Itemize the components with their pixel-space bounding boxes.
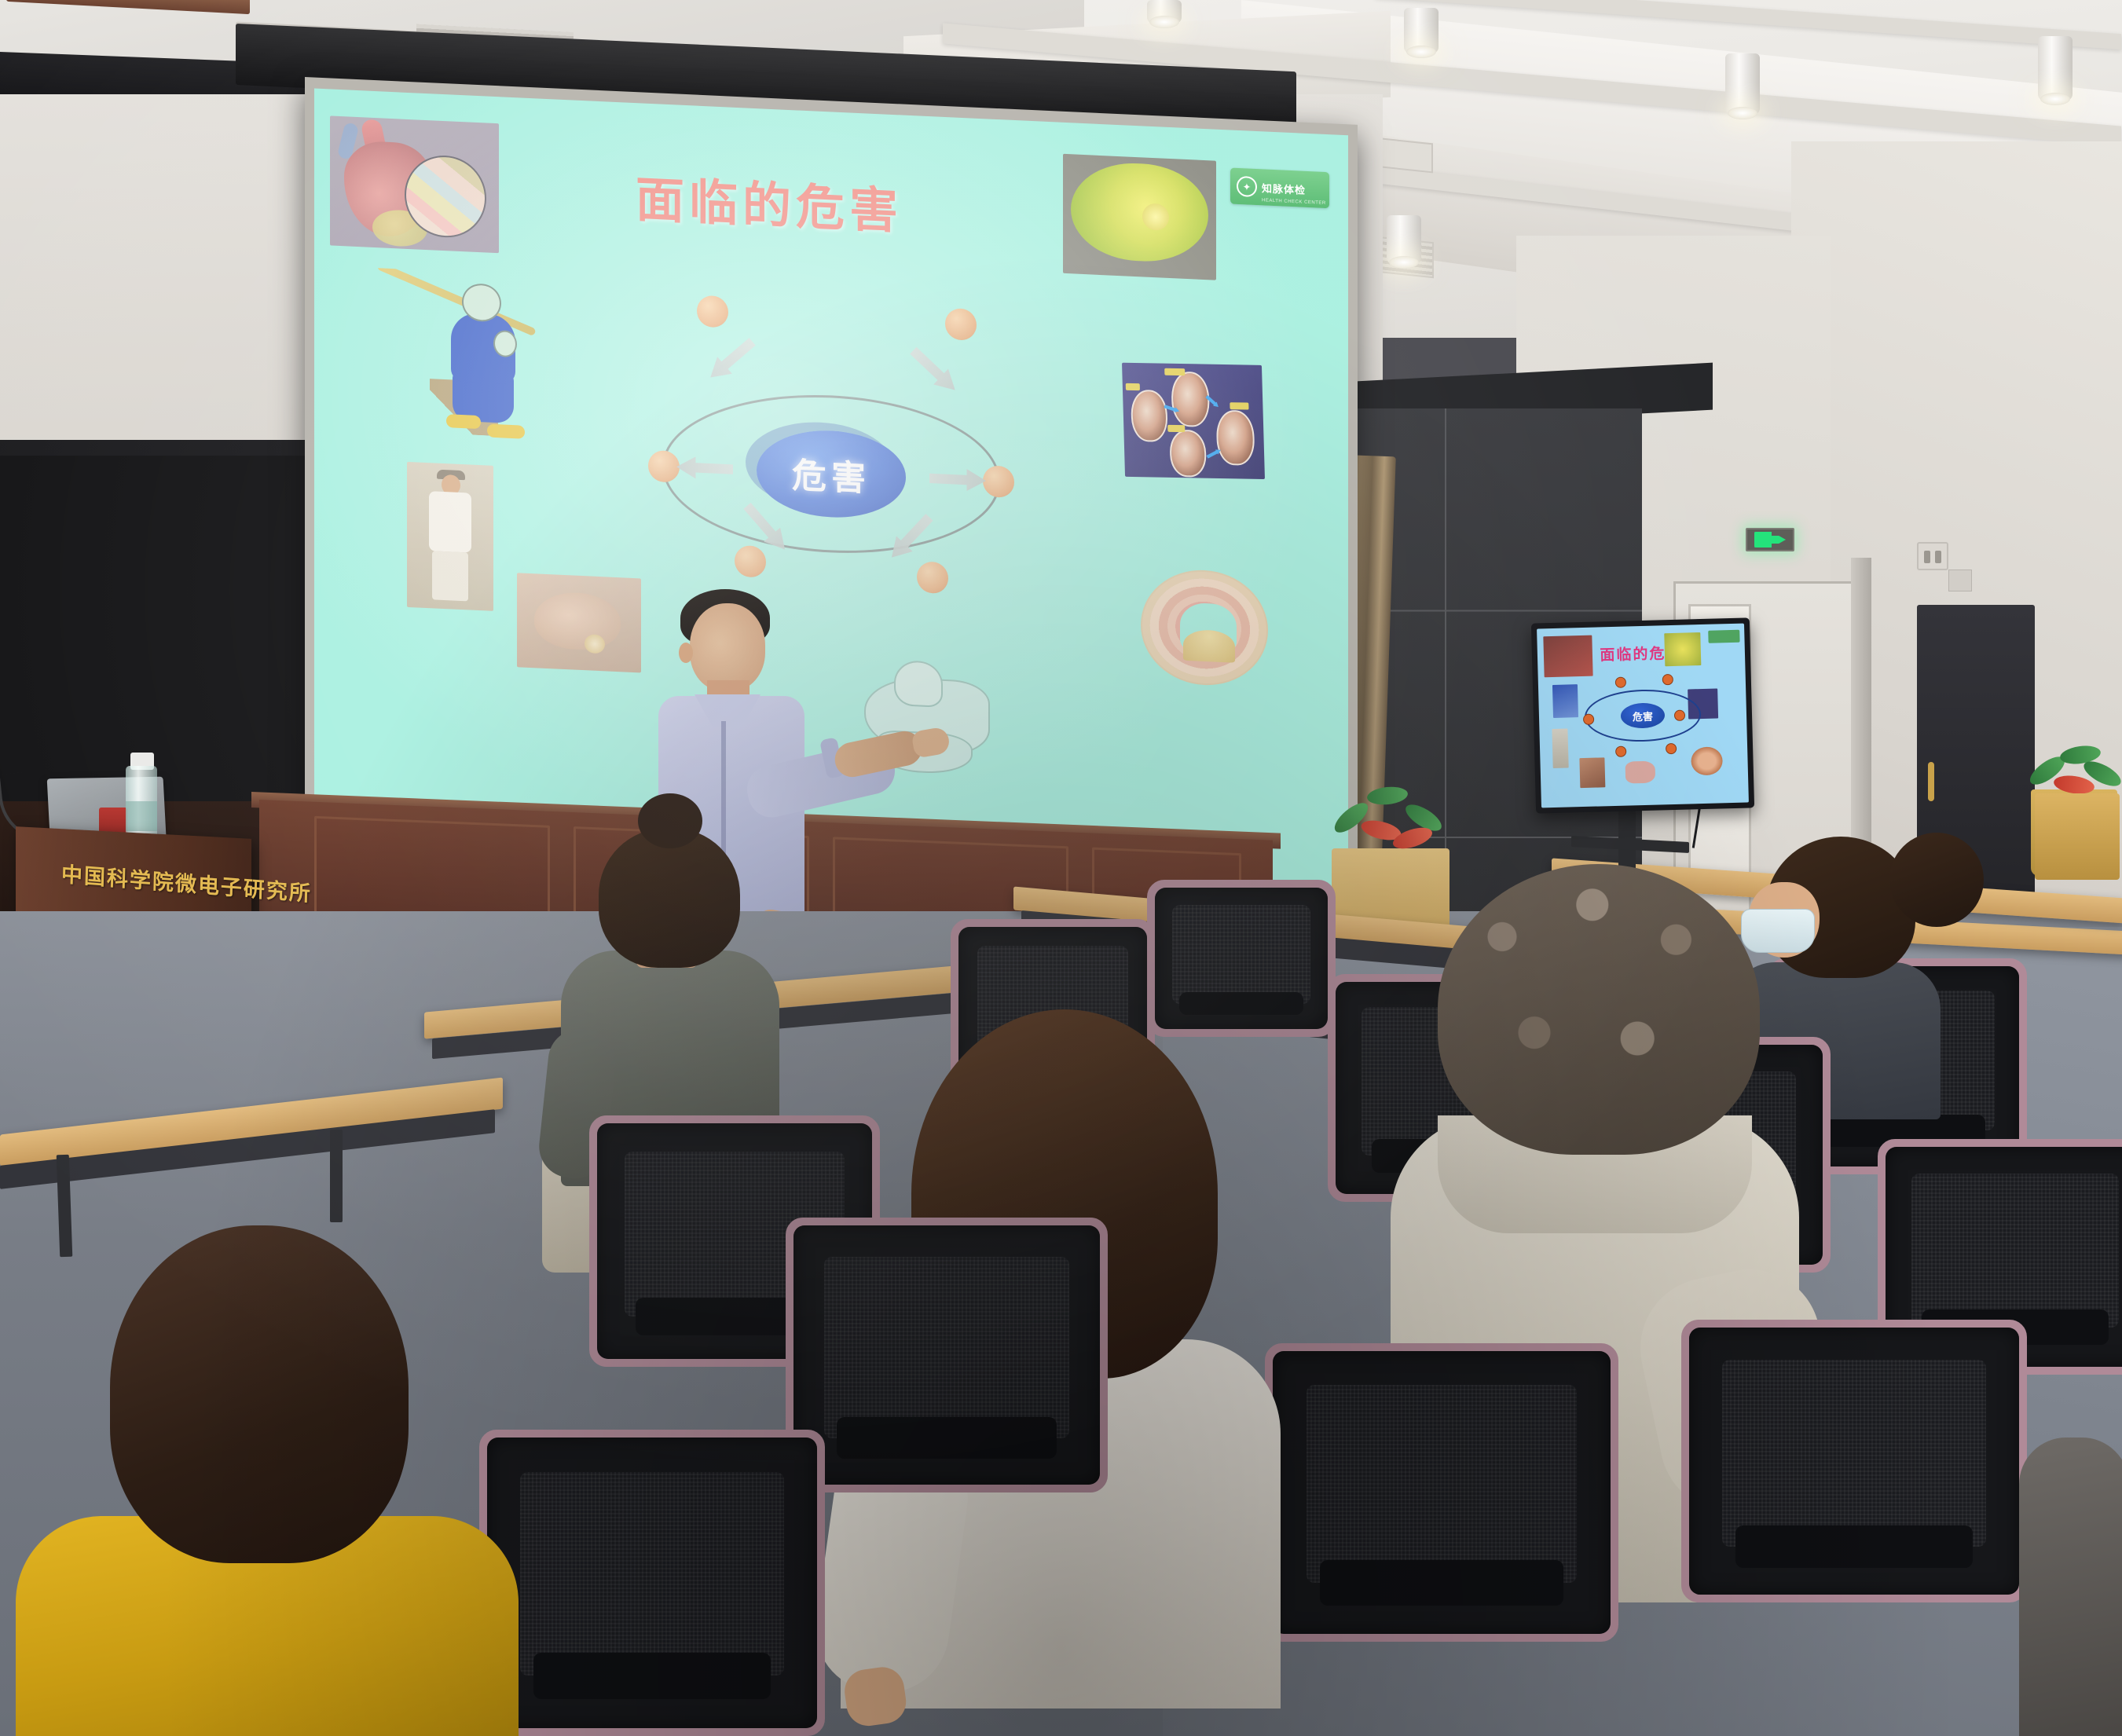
slide-logo-subtext: HEALTH CHECK CENTER [1262, 198, 1326, 206]
ceiling-spotlight-icon [1725, 53, 1760, 115]
cell-label-tag [1167, 425, 1185, 432]
monitor-man-image [1552, 729, 1568, 769]
diagram-node [648, 450, 680, 483]
chair-mesh [520, 1472, 784, 1676]
person-hair [1438, 864, 1760, 1155]
confidence-monitor[interactable]: 面临的危害 危害 [1531, 617, 1754, 813]
chair-mesh [1172, 905, 1310, 1004]
cell-icon [1131, 390, 1168, 442]
audience-yellow-top [16, 1225, 519, 1736]
chair-back [487, 1438, 817, 1728]
leaf-icon [1366, 785, 1409, 806]
cartoon-shoe [446, 414, 481, 429]
monitor-retina-image [1664, 632, 1701, 666]
emergency-exit-sign-icon [1746, 528, 1794, 551]
chair[interactable] [1689, 1328, 2019, 1595]
bottle-label [126, 801, 157, 831]
standing-man-photo [407, 462, 493, 611]
chair-back [793, 1225, 1100, 1485]
cell-icon [1169, 430, 1207, 478]
chair[interactable] [793, 1225, 1100, 1485]
ceiling-spotlight-icon [1387, 215, 1421, 264]
vessel-wall-icon [1141, 567, 1268, 687]
running-man-icon [1754, 532, 1786, 548]
toe-icon [534, 591, 621, 651]
slide-title: 面临的危害 [636, 159, 903, 242]
diagram-center-label: 危害 [792, 447, 870, 501]
monitor-handfoot-image [1625, 761, 1656, 784]
planter-box [2035, 793, 2120, 880]
presenter-head [690, 603, 765, 691]
chair-back [1689, 1328, 2019, 1595]
person-hair [110, 1225, 409, 1563]
chair-lumbar-support [533, 1653, 771, 1699]
chair-mesh [1722, 1360, 1986, 1547]
monitor-node [1615, 746, 1626, 757]
chair-mesh [1307, 1385, 1577, 1583]
ulcer-icon [585, 634, 605, 654]
monitor-foot-image [1579, 757, 1605, 788]
monitor-logo-badge [1708, 630, 1739, 643]
artery-cross-section-photo [1134, 566, 1276, 690]
chair-lumbar-support [1320, 1560, 1563, 1606]
arrow-icon [703, 333, 760, 386]
monitor-node [1666, 743, 1677, 754]
cell-icon [1216, 410, 1255, 466]
cell-label-tag [1164, 368, 1185, 375]
monitor-node [1615, 677, 1626, 688]
leaf-circle-icon: ✦ [1237, 176, 1257, 197]
legs-icon [432, 551, 468, 601]
wall-power-outlet [1917, 542, 1948, 570]
diabetic-foot-photo [517, 573, 641, 672]
heart-and-artery-photo [330, 115, 499, 253]
monitor-cartoon-image [1552, 684, 1578, 718]
chair[interactable] [1273, 1351, 1611, 1634]
slide-logo-text: 知脉体检 [1262, 180, 1306, 197]
ear-icon [679, 643, 693, 663]
cell-label-tag [1230, 402, 1248, 409]
chair-mesh [1911, 1174, 2119, 1328]
arrow-icon [906, 342, 962, 398]
potted-plant [1320, 770, 1461, 864]
cartoon-shoe [487, 424, 525, 439]
ceiling-spotlight-icon [2038, 36, 2073, 101]
chair-back [1155, 888, 1328, 1029]
chair-lumbar-support [1735, 1525, 1973, 1568]
monitor-node [1662, 674, 1673, 685]
slide-logo-badge: ✦ 知脉体检 HEALTH CHECK CENTER [1230, 167, 1329, 208]
torso-icon [429, 491, 471, 552]
diagram-node [945, 308, 977, 341]
person-hair [599, 828, 740, 968]
monitor-artery-image [1691, 746, 1723, 775]
ceiling-spotlight-icon [1147, 0, 1182, 24]
cell-label-tag [1126, 383, 1140, 390]
table-leg [330, 1130, 343, 1222]
chair-mesh [824, 1257, 1069, 1438]
cartoon-hand [493, 330, 517, 357]
ceiling-spotlight-icon [1404, 8, 1438, 53]
monitor-heart-image [1543, 635, 1592, 678]
retina-caption: stage 0: normal fundus, absence of any s… [1063, 278, 1216, 280]
hair-bun-icon [638, 793, 702, 848]
chair-back [1273, 1351, 1611, 1634]
chair[interactable] [487, 1438, 817, 1728]
kidney-cells-diagram [1122, 363, 1265, 479]
optic-disc-icon [1142, 203, 1169, 231]
chair[interactable] [1155, 888, 1328, 1029]
diagram-node [735, 545, 766, 578]
elderly-chest-pain-cartoon [376, 268, 544, 445]
retina-fundus-photo: stage 0: normal fundus, absence of any s… [1063, 154, 1216, 280]
monitor-screen: 面临的危害 危害 [1537, 624, 1749, 808]
diagram-node [917, 561, 948, 594]
audience-bottom-right [2019, 1438, 2122, 1736]
diagram-node [697, 295, 728, 328]
cell-icon [1171, 372, 1210, 427]
audience-side-head [1889, 833, 1984, 927]
wall-control-panel [1948, 570, 1972, 591]
fundus-icon [1071, 160, 1208, 264]
harm-orbit-diagram: 危害 [662, 387, 1000, 560]
lecture-hall-scene: 面临的危害 stage 0: normal fundus, absence of… [0, 0, 2122, 1736]
chair-lumbar-support [837, 1417, 1057, 1459]
finger-outline-icon [894, 660, 943, 708]
